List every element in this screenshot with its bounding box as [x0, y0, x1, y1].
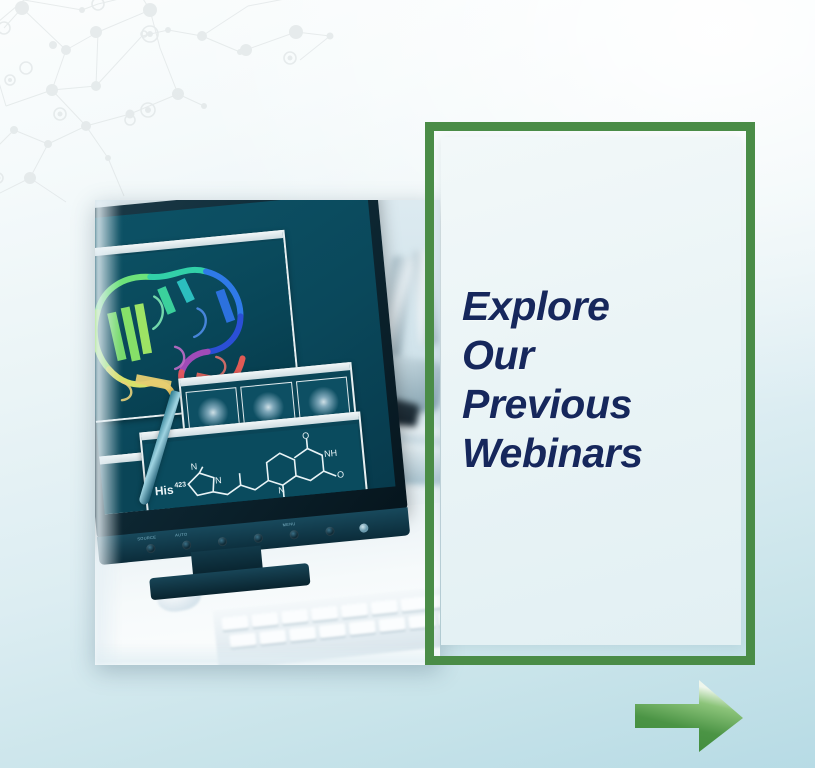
slide-canvas: N N R N NH O O His 423 — [0, 0, 815, 768]
arrow-right-icon[interactable] — [633, 678, 745, 754]
node-network-icon — [0, 0, 370, 218]
svg-text:O: O — [337, 469, 345, 480]
page-title: Explore Our Previous Webinars — [462, 282, 752, 478]
headline-line-3: Previous — [462, 380, 752, 429]
headline-line-2: Our — [462, 331, 752, 380]
svg-text:O: O — [302, 430, 310, 441]
chem-residue-number: 423 — [174, 481, 186, 489]
headline-line-4: Webinars — [462, 429, 752, 478]
svg-text:N: N — [190, 461, 197, 472]
svg-text:N: N — [278, 485, 285, 496]
svg-text:NH: NH — [324, 448, 338, 459]
lab-monitor-photo: N N R N NH O O His 423 — [95, 200, 440, 665]
headline-line-1: Explore — [462, 282, 752, 331]
chem-residue-label: His — [154, 483, 174, 499]
monitor-screen: N N R N NH O O His 423 — [95, 200, 395, 514]
svg-text:N: N — [215, 475, 222, 486]
computer-monitor: N N R N NH O O His 423 — [95, 200, 430, 589]
